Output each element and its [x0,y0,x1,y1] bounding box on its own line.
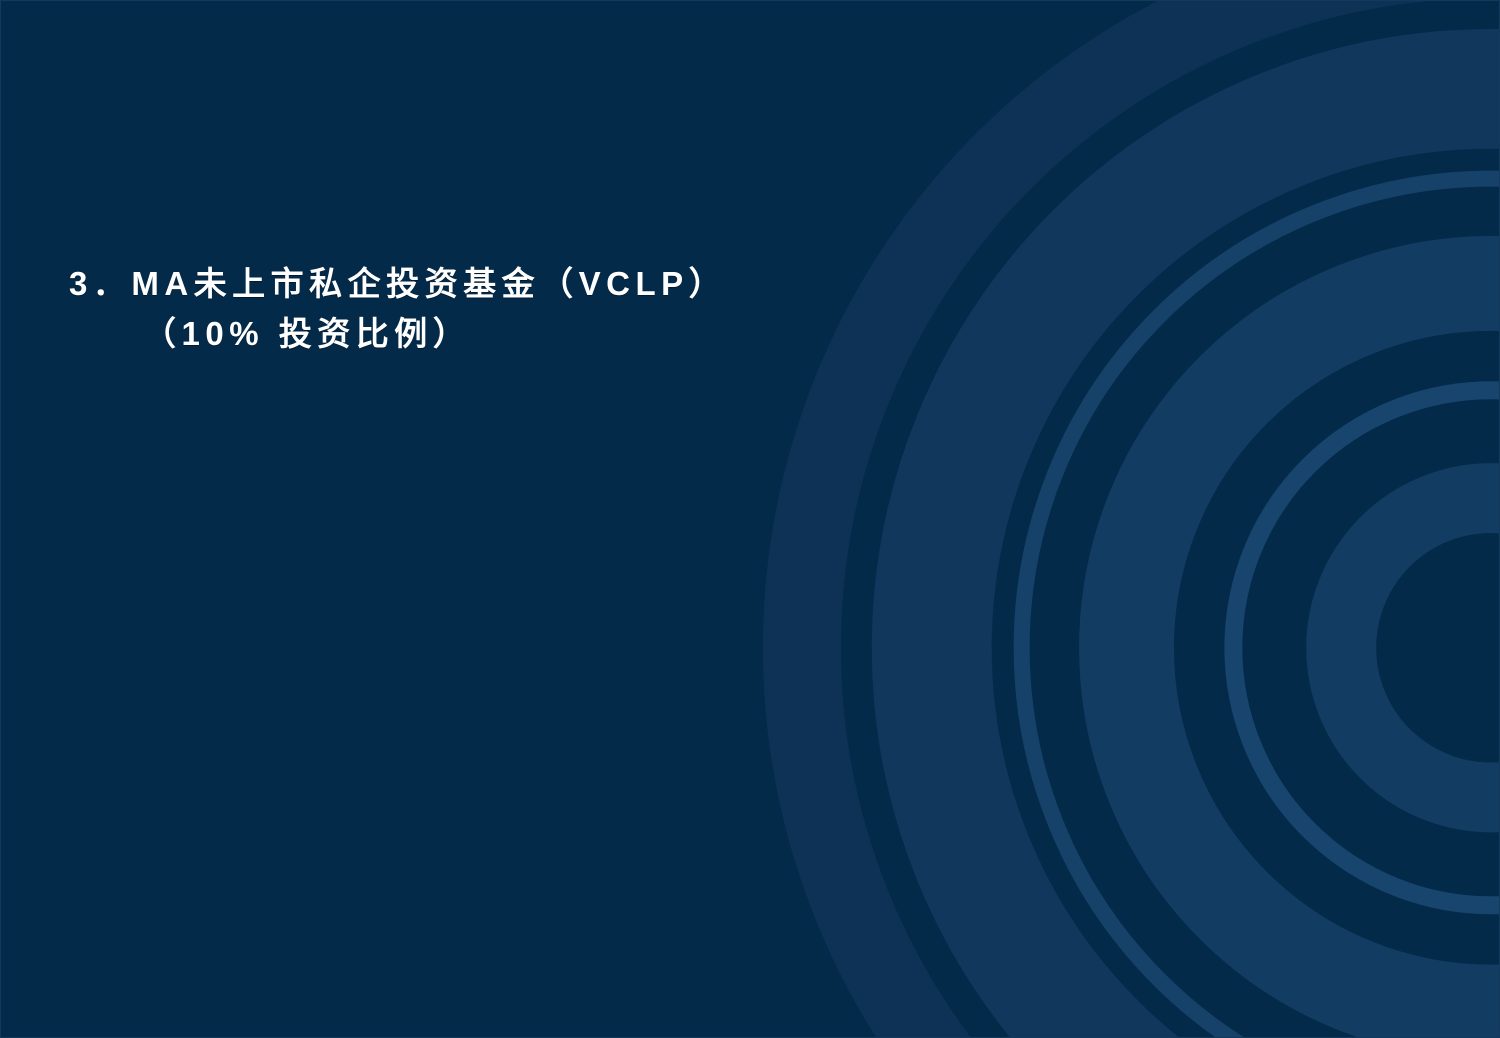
arc-ring-inner-highlight [1233,390,1499,905]
arc-ring-second [932,89,1499,1037]
title-line-2: （10% 投资比例） [69,309,969,359]
title-line-1: 3．MA未上市私企投资基金（VCLP） [69,259,969,309]
slide-title: 3．MA未上市私企投资基金（VCLP） （10% 投资比例） [69,259,969,359]
arc-ring-third [1126,283,1499,1012]
background-decoration [1,1,1499,1037]
arc-ring-outer [802,1,1499,1037]
slide-canvas: 3．MA未上市私企投资基金（VCLP） （10% 投资比例） [0,0,1500,1038]
arc-ring-innermost [1341,498,1499,797]
arc-ring-highlight [1022,179,1499,1037]
